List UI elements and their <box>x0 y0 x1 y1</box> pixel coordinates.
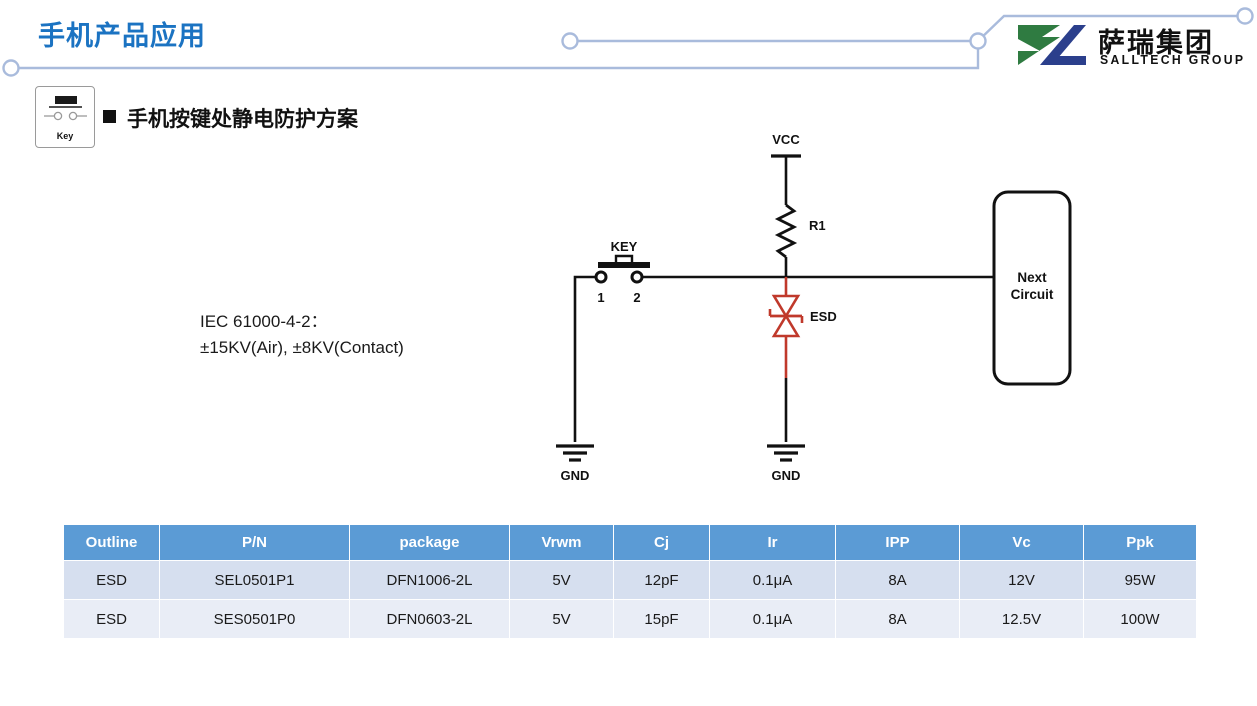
vcc-label: VCC <box>772 132 800 147</box>
cell-cj: 12pF <box>614 561 710 600</box>
cell-package: DFN1006-2L <box>350 561 510 600</box>
iec-note-line-2: ±15KV(Air), ±8KV(Contact) <box>200 335 404 361</box>
key-switch-icon <box>36 87 94 131</box>
resistor-r1-symbol <box>778 205 794 257</box>
key-switch-cap <box>616 256 632 262</box>
table-header-row: Outline P/N package Vrwm Cj Ir IPP Vc Pp… <box>64 525 1197 561</box>
slide-page: 手机产品应用 萨瑞集团 SALLTECH GROUP Key 手机按键处静电防护… <box>0 0 1257 706</box>
key-pin1-label: 1 <box>597 290 604 305</box>
cell-pn: SES0501P0 <box>160 600 350 639</box>
col-header-vc: Vc <box>960 525 1084 561</box>
col-header-package: package <box>350 525 510 561</box>
next-circuit-label-line1: Next <box>1017 270 1047 285</box>
cell-vrwm: 5V <box>510 561 614 600</box>
col-header-pn: P/N <box>160 525 350 561</box>
gnd-right-label: GND <box>772 468 801 483</box>
cell-ipp: 8A <box>836 600 960 639</box>
key-label: KEY <box>611 239 638 254</box>
cell-vrwm: 5V <box>510 600 614 639</box>
page-title: 手机产品应用 <box>38 14 206 53</box>
iec-note-line-1: IEC 61000-4-2： <box>200 309 404 335</box>
r1-label: R1 <box>809 218 826 233</box>
key-icon-label: Key <box>36 131 94 141</box>
deco-circle-right <box>1238 9 1253 24</box>
key-icon-box: Key <box>35 86 95 148</box>
cell-outline: ESD <box>64 600 160 639</box>
company-logo: 萨瑞集团 SALLTECH GROUP <box>1016 23 1251 73</box>
col-header-ppk: Ppk <box>1084 525 1197 561</box>
key-switch-bar <box>598 262 650 268</box>
cell-vc: 12V <box>960 561 1084 600</box>
col-header-ir: Ir <box>710 525 836 561</box>
col-header-vrwm: Vrwm <box>510 525 614 561</box>
esd-label: ESD <box>810 309 837 324</box>
gnd-symbol-left <box>556 446 594 460</box>
iec-standard-note: IEC 61000-4-2： ±15KV(Air), ±8KV(Contact) <box>200 309 404 361</box>
cell-cj: 15pF <box>614 600 710 639</box>
key-pin1-terminal <box>596 272 606 282</box>
wire-key-to-gnd-left <box>575 277 596 442</box>
cell-package: DFN0603-2L <box>350 600 510 639</box>
cell-ir: 0.1μA <box>710 600 836 639</box>
cell-ir: 0.1μA <box>710 561 836 600</box>
next-circuit-label-line2: Circuit <box>1011 287 1054 302</box>
deco-circle-junction <box>971 34 986 49</box>
cell-ppk: 100W <box>1084 600 1197 639</box>
circuit-schematic: VCC R1 KEY 1 2 GND <box>520 120 1140 490</box>
key-pin2-terminal <box>632 272 642 282</box>
deco-circle-left <box>4 61 19 76</box>
table-row: ESD SEL0501P1 DFN1006-2L 5V 12pF 0.1μA 8… <box>64 561 1197 600</box>
gnd-left-label: GND <box>561 468 590 483</box>
cell-ipp: 8A <box>836 561 960 600</box>
product-spec-table: Outline P/N package Vrwm Cj Ir IPP Vc Pp… <box>63 524 1197 639</box>
section-title: 手机按键处静电防护方案 <box>127 103 358 133</box>
gnd-symbol-right <box>767 446 805 460</box>
section-bullet-icon <box>103 110 116 123</box>
col-header-outline: Outline <box>64 525 160 561</box>
col-header-cj: Cj <box>614 525 710 561</box>
deco-circle-middle <box>563 34 578 49</box>
logo-name-en: SALLTECH GROUP <box>1100 52 1245 67</box>
cell-ppk: 95W <box>1084 561 1197 600</box>
cell-vc: 12.5V <box>960 600 1084 639</box>
col-header-ipp: IPP <box>836 525 960 561</box>
table-row: ESD SES0501P0 DFN0603-2L 5V 15pF 0.1μA 8… <box>64 600 1197 639</box>
cell-pn: SEL0501P1 <box>160 561 350 600</box>
salltech-logo-mark <box>1016 23 1088 67</box>
esd-tvs-diode-symbol <box>770 296 802 336</box>
cell-outline: ESD <box>64 561 160 600</box>
key-pin2-label: 2 <box>633 290 640 305</box>
